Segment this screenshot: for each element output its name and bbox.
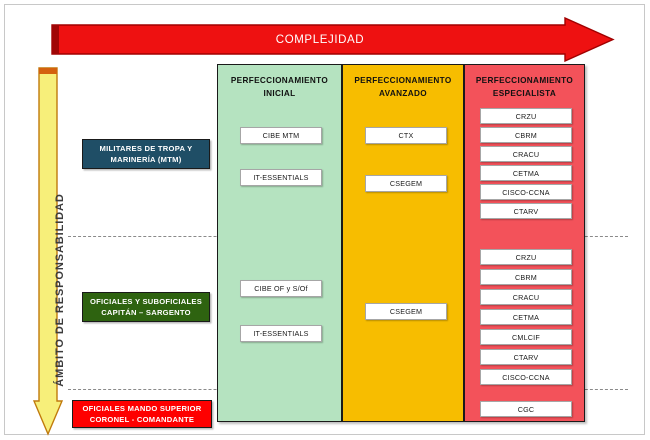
role-badge-mando-superior: OFICIALES MANDO SUPERIOR CORONEL - COMAN…: [72, 400, 212, 428]
course-chip: CIBE MTM: [240, 127, 322, 144]
role-badge-line2: CORONEL - COMANDANTE: [90, 414, 194, 425]
role-badge-oficiales-suboficiales: OFICIALES Y SUBOFICIALES CAPITÁN – SARGE…: [82, 292, 210, 322]
role-badge-line1: MILITARES DE TROPA Y: [100, 143, 193, 154]
role-badge-line1: OFICIALES MANDO SUPERIOR: [82, 403, 201, 414]
course-chip: CBRM: [480, 269, 572, 285]
role-badge-line2: MARINERÍA (MTM): [111, 154, 182, 165]
course-chip: CRZU: [480, 108, 572, 124]
column-perfeccionamiento-especialista: PERFECCIONAMIENTO ESPECIALISTA CRZU CBRM…: [464, 64, 585, 422]
responsibility-arrow: ÁMBITO DE RESPONSABILIDAD: [33, 66, 63, 436]
course-chip: CBRM: [480, 127, 572, 143]
course-chip: CTX: [365, 127, 447, 144]
column-title: PERFECCIONAMIENTO INICIAL: [218, 74, 341, 100]
course-chip: CISCO-CCNA: [480, 369, 572, 385]
column-title-line1: PERFECCIONAMIENTO: [465, 74, 584, 87]
course-chip: CRZU: [480, 249, 572, 265]
role-badge-mtm: MILITARES DE TROPA Y MARINERÍA (MTM): [82, 139, 210, 169]
course-chip: CETMA: [480, 165, 572, 181]
course-chip: CTARV: [480, 203, 572, 219]
course-chip: CMLCIF: [480, 329, 572, 345]
course-chip: CRACU: [480, 146, 572, 162]
course-chip: IT-ESSENTIALS: [240, 325, 322, 342]
role-badge-line1: OFICIALES Y SUBOFICIALES: [90, 296, 202, 307]
course-chip: CGC: [480, 401, 572, 417]
complexity-arrow: [50, 17, 615, 62]
course-chip: CRACU: [480, 289, 572, 305]
column-title: PERFECCIONAMIENTO AVANZADO: [343, 74, 463, 100]
column-perfeccionamiento-inicial: PERFECCIONAMIENTO INICIAL CIBE MTM IT-ES…: [217, 64, 342, 422]
course-chip: CIBE OF y S/Of: [240, 280, 322, 297]
column-title-line2: ESPECIALISTA: [465, 87, 584, 100]
column-title: PERFECCIONAMIENTO ESPECIALISTA: [465, 74, 584, 100]
role-badge-line2: CAPITÁN – SARGENTO: [101, 307, 191, 318]
course-chip: IT-ESSENTIALS: [240, 169, 322, 186]
course-chip: CETMA: [480, 309, 572, 325]
course-chip: CSEGEM: [365, 175, 447, 192]
course-chip: CISCO-CCNA: [480, 184, 572, 200]
course-chip: CTARV: [480, 349, 572, 365]
column-perfeccionamiento-avanzado: PERFECCIONAMIENTO AVANZADO CTX CSEGEM CS…: [342, 64, 464, 422]
column-title-line2: INICIAL: [218, 87, 341, 100]
column-title-line1: PERFECCIONAMIENTO: [343, 74, 463, 87]
course-chip: CSEGEM: [365, 303, 447, 320]
column-title-line2: AVANZADO: [343, 87, 463, 100]
column-title-line1: PERFECCIONAMIENTO: [218, 74, 341, 87]
